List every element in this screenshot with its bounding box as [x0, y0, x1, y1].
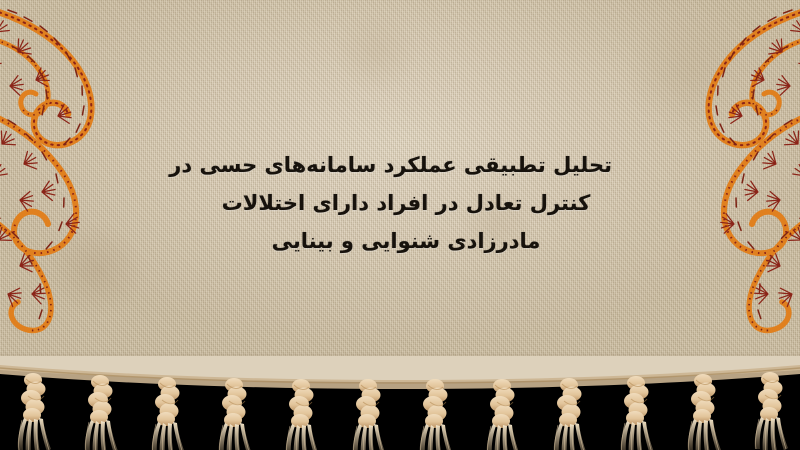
title-slide: تحلیل تطبیقی عملکرد سامانه‌های حسی در کن…: [0, 0, 800, 450]
paisley-ornament-left-icon: [0, 0, 196, 342]
title-line-3: مادرزادی شنوایی و بینایی: [200, 222, 612, 260]
paisley-ornament-right-icon: [604, 0, 800, 342]
title-line-1: تحلیل تطبیقی عملکرد سامانه‌های حسی در: [200, 146, 612, 184]
title-line-2: کنترل تعادل در افراد دارای اختلالات: [200, 184, 612, 222]
tassel-fringe: [0, 356, 800, 450]
page-title: تحلیل تطبیقی عملکرد سامانه‌های حسی در کن…: [200, 146, 612, 260]
